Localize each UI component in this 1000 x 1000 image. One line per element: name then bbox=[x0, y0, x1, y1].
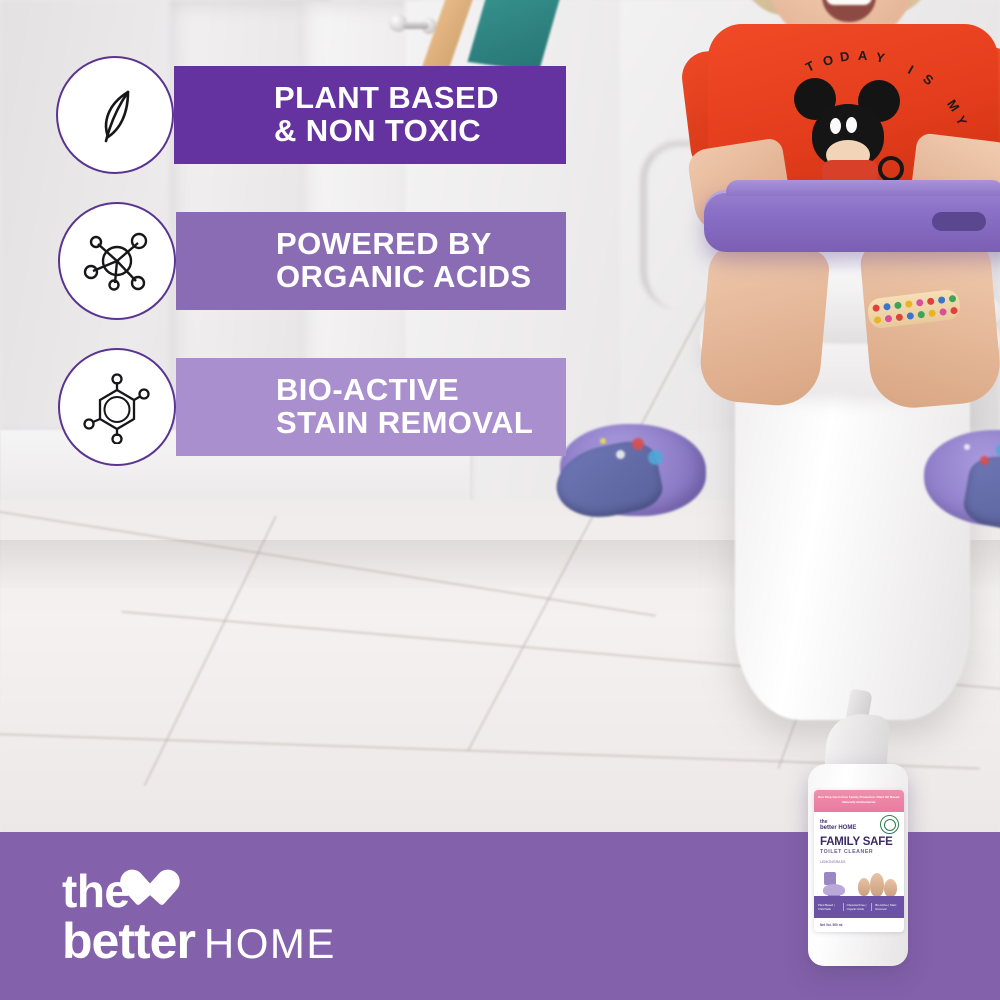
child-on-toilet: TODAY IS MY DAY bbox=[600, 0, 1000, 554]
benzene-ring-icon bbox=[58, 348, 176, 466]
feature-line-2: & NON TOXIC bbox=[274, 115, 566, 148]
feature-badge-bar: POWERED BY ORGANIC ACIDS bbox=[176, 212, 566, 310]
mickey-mouse-print bbox=[796, 82, 902, 186]
feature-badge-organic-acids[interactable]: POWERED BY ORGANIC ACIDS bbox=[58, 202, 566, 320]
label-banner-text: One Stop Germ Free Family Protection. Pl… bbox=[814, 790, 904, 804]
tablet-handle-slot bbox=[932, 212, 986, 231]
purple-tablet bbox=[704, 190, 1000, 252]
label-feature-3: Bio Active | Stain Removal bbox=[875, 903, 900, 911]
feature-badge-bar: BIO-ACTIVE STAIN REMOVAL bbox=[176, 358, 566, 456]
slipper-right bbox=[924, 430, 1000, 526]
label-brand-mark: the better HOME bbox=[820, 820, 856, 832]
brand-logo: the better HOME bbox=[62, 868, 402, 964]
product-marketing-image: TODAY IS MY DAY bbox=[0, 0, 1000, 1000]
organic-certified-seal bbox=[880, 815, 899, 834]
label-product-subtitle: TOILET CLEANER bbox=[820, 849, 873, 855]
child-leg-left bbox=[697, 241, 830, 409]
leaf-icon bbox=[56, 56, 174, 174]
feature-line-2: STAIN REMOVAL bbox=[276, 407, 566, 440]
product-bottle[interactable]: One Stop Germ Free Family Protection. Pl… bbox=[800, 690, 918, 970]
label-brand-better-home: better HOME bbox=[820, 825, 856, 832]
feature-badge-list: PLANT BASED & NON TOXIC POWERED BY ORGAN… bbox=[0, 0, 600, 500]
feature-line-1: BIO-ACTIVE bbox=[276, 374, 566, 407]
heart-icon bbox=[138, 872, 180, 910]
logo-the: the bbox=[62, 870, 130, 914]
label-feature-2: Chemical Free | Organic Acids bbox=[847, 903, 873, 911]
feature-badge-stain-removal[interactable]: BIO-ACTIVE STAIN REMOVAL bbox=[58, 348, 566, 466]
feature-line-1: POWERED BY bbox=[276, 228, 566, 261]
bottle-label: One Stop Germ Free Family Protection. Pl… bbox=[814, 790, 904, 932]
label-feature-1: Plant Based | Child Safe bbox=[818, 903, 844, 911]
label-pink-banner: One Stop Germ Free Family Protection. Pl… bbox=[814, 790, 904, 812]
label-product-title: FAMILY SAFE bbox=[820, 836, 893, 848]
feature-line-2: ORGANIC ACIDS bbox=[276, 261, 566, 294]
label-volume: Net Vol. 500 ml bbox=[820, 923, 842, 927]
molecule-icon bbox=[58, 202, 176, 320]
logo-better: better bbox=[62, 916, 195, 966]
label-feature-band: Plant Based | Child Safe Chemical Free |… bbox=[814, 896, 904, 918]
feature-badge-bar: PLANT BASED & NON TOXIC bbox=[174, 66, 566, 164]
feature-line-1: PLANT BASED bbox=[274, 82, 566, 115]
logo-home: HOME bbox=[204, 920, 336, 968]
feature-badge-plant-based[interactable]: PLANT BASED & NON TOXIC bbox=[56, 56, 566, 174]
label-fragrance: LEMONGRASS bbox=[820, 860, 845, 864]
